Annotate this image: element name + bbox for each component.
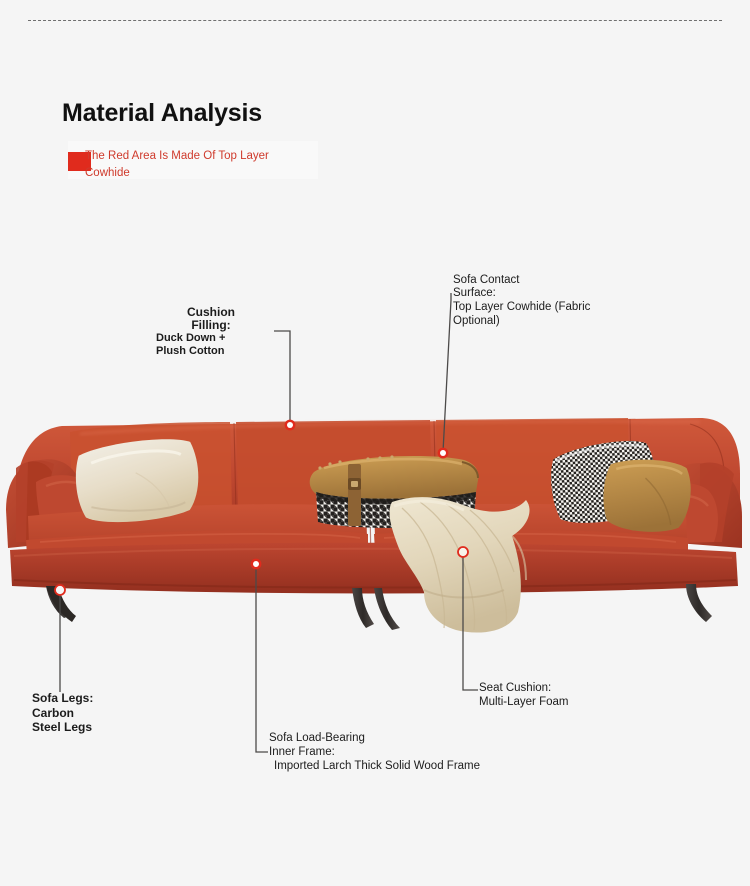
infographic-page: Material Analysis The Red Area Is Made O…: [0, 0, 750, 886]
annotation-sofa-load-bearing-inner-frame: Sofa Load-Bearing Inner Frame: Imported …: [269, 731, 499, 773]
annotation-cushion-filling: Cushion Filling: Duck Down + Plush Cotto…: [156, 306, 266, 357]
annotation-seat-cushion: Seat Cushion: Multi-Layer Foam: [479, 682, 619, 709]
marker-sofa-contact-surface: [438, 448, 449, 459]
annotation-heading: Cushion Filling:: [156, 306, 266, 332]
annotation-sofa-legs: Sofa Legs: Carbon Steel Legs: [32, 691, 142, 735]
marker-cushion-filling: [285, 420, 296, 431]
leader-seat-cushion: [463, 555, 478, 690]
annotation-body: Multi-Layer Foam: [479, 696, 619, 710]
annotation-heading: Sofa Legs: Carbon Steel Legs: [32, 691, 142, 735]
leader-sofa-contact-surface: [443, 293, 451, 452]
leader-inner-frame: [256, 566, 268, 752]
annotation-sofa-contact-surface: Sofa Contact Surface: Top Layer Cowhide …: [453, 274, 603, 328]
marker-sofa-legs: [55, 585, 65, 595]
marker-seat-cushion: [458, 547, 468, 557]
annotation-body: Imported Larch Thick Solid Wood Frame: [269, 759, 499, 773]
annotation-heading: Sofa Load-Bearing Inner Frame:: [269, 731, 499, 759]
annotation-heading: Seat Cushion:: [479, 682, 619, 696]
annotation-body: Duck Down + Plush Cotton: [156, 332, 266, 357]
marker-inner-frame: [251, 559, 262, 570]
annotation-heading: Sofa Contact Surface:: [453, 274, 603, 300]
annotation-body: Top Layer Cowhide (Fabric Optional): [453, 300, 603, 328]
leader-cushion-filling: [274, 331, 290, 424]
